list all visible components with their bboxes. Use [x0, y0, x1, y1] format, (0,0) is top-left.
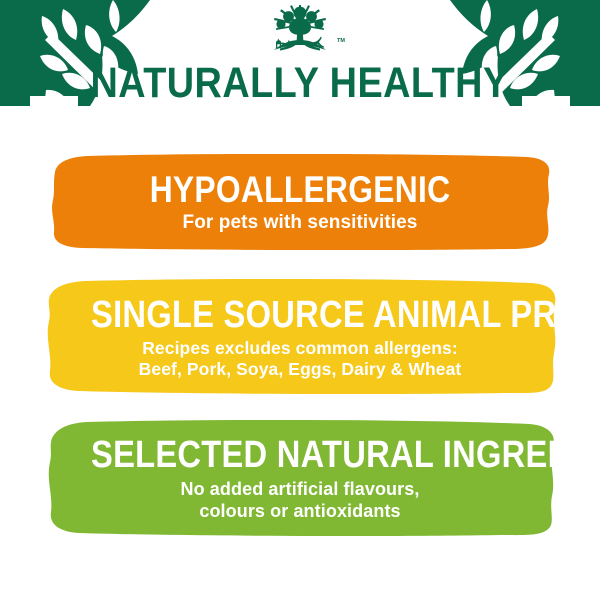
banner-selected-natural-ingredients: SELECTED NATURAL INGREDIENTS No added ar… — [35, 420, 565, 536]
banner-subline: Beef, Pork, Soya, Eggs, Dairy & Wheat — [57, 359, 543, 380]
tree-logo-icon: TM — [240, 4, 360, 60]
banner-headline: SINGLE SOURCE ANIMAL PROTEIN — [91, 294, 509, 336]
naturally-healthy-infographic: TM NATURALLY HEALTHY HYPOALLERGENIC For … — [0, 0, 600, 600]
banner-subtext: Recipes excludes common allergens: Beef,… — [57, 338, 543, 380]
banner-single-source-animal-protein: SINGLE SOURCE ANIMAL PROTEIN Recipes exc… — [35, 279, 565, 394]
leaf-branch-decoration-left — [0, 0, 190, 112]
banner-headline: HYPOALLERGENIC — [91, 170, 509, 210]
banner-subline: colours or antioxidants — [57, 500, 543, 522]
banner-content: SINGLE SOURCE ANIMAL PROTEIN Recipes exc… — [35, 294, 565, 380]
banner-subtext: No added artificial flavours, colours or… — [57, 478, 543, 522]
banner-headline: SELECTED NATURAL INGREDIENTS — [91, 434, 509, 476]
banner-content: SELECTED NATURAL INGREDIENTS No added ar… — [35, 434, 565, 522]
leaf-branch-decoration-right — [410, 0, 600, 112]
header-banner: TM NATURALLY HEALTHY — [0, 0, 600, 118]
banner-subtext: For pets with sensitivities — [57, 211, 543, 235]
feature-banner-list: HYPOALLERGENIC For pets with sensitiviti… — [0, 118, 600, 536]
banner-subline: No added artificial flavours, — [57, 478, 543, 500]
banner-subline: Recipes excludes common allergens: — [57, 338, 543, 359]
trademark-symbol: TM — [337, 38, 345, 44]
banner-content: HYPOALLERGENIC For pets with sensitiviti… — [35, 170, 565, 235]
banner-subline: For pets with sensitivities — [57, 211, 543, 235]
banner-hypoallergenic: HYPOALLERGENIC For pets with sensitiviti… — [35, 154, 565, 250]
